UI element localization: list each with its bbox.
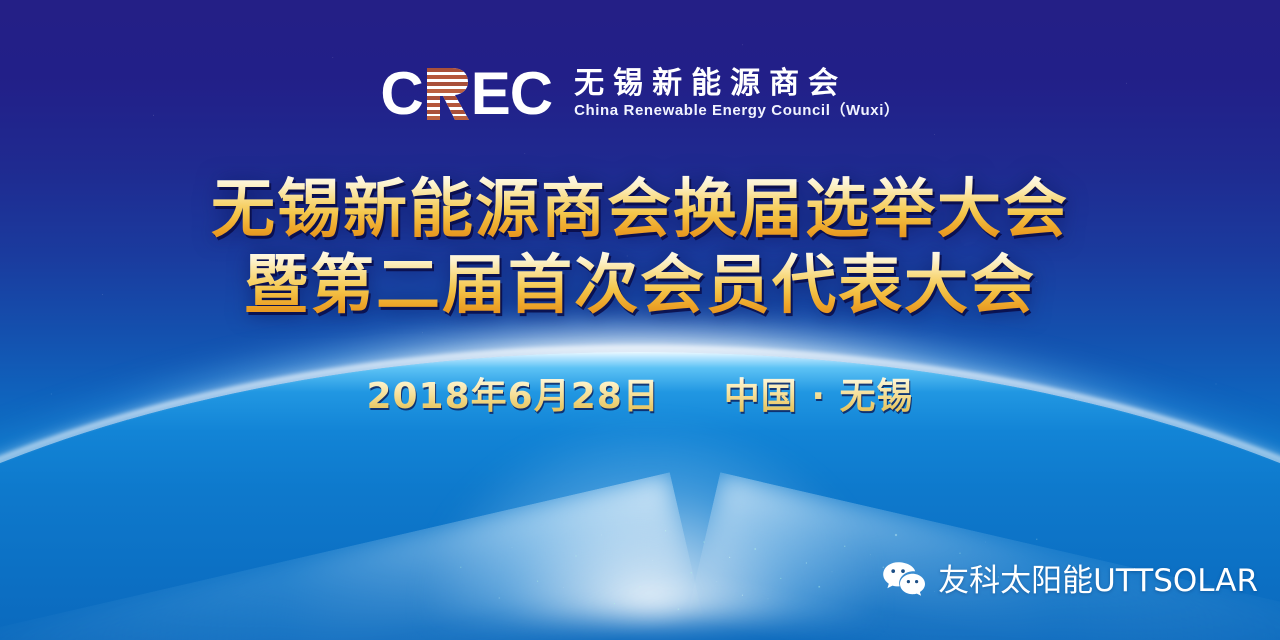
crec-letter-e: E [471,64,510,124]
crec-wordmark: C [380,64,552,124]
crec-letter-c1: C [380,64,422,124]
event-date: 2018年6月28日 [366,374,659,420]
headline-line-2: 暨第二届首次会员代表大会 [0,248,1280,324]
headline-line-1: 无锡新能源商会换届选举大会 [0,172,1280,248]
earth-sun-hotspot [420,420,880,620]
event-meta: 2018年6月28日 中国 · 无锡 [0,374,1280,420]
page-title: 无锡新能源商会换届选举大会 暨第二届首次会员代表大会 [0,172,1280,324]
event-location: 中国 · 无锡 [724,374,914,420]
wechat-watermark: 友科太阳能UTTSOLAR [882,561,1258,602]
crec-english-name: China Renewable Energy Council（Wuxi） [574,103,900,120]
wechat-account-label: 友科太阳能UTTSOLAR [938,566,1258,597]
event-poster: C [0,0,1280,640]
crec-letter-c2: C [510,64,552,124]
striped-r-icon [424,66,470,122]
crec-logo: C [0,64,1280,124]
crec-name-block: 无锡新能源商会 China Renewable Energy Council（W… [574,68,900,119]
earth-limb-sweep-right [680,472,1280,640]
wechat-icon [882,561,926,602]
earth-limb-sweep-left [0,472,710,640]
crec-chinese-name: 无锡新能源商会 [574,68,900,100]
